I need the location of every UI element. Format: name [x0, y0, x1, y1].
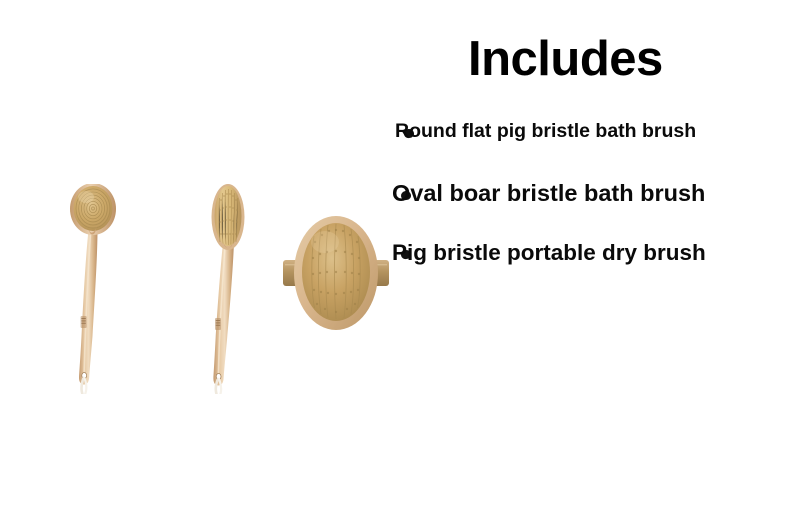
- round-bath-brush-illustration: [48, 184, 138, 394]
- feature-label: Pig bristle portable dry brush: [392, 240, 706, 265]
- feature-item-2: Pig bristle portable dry brush: [392, 240, 706, 266]
- page-title: Includes: [468, 31, 663, 87]
- product-includes-graphic: Includes Round flat pig bristle bath bru…: [0, 0, 800, 512]
- oval-dry-brush-illustration: [281, 212, 391, 334]
- feature-item-0: Round flat pig bristle bath brush: [395, 120, 696, 143]
- product-image-pig-bristle-portable-dry-brush: [281, 212, 391, 334]
- feature-label: Oval boar bristle bath brush: [392, 180, 705, 206]
- oval-bath-brush-illustration: [183, 184, 273, 394]
- feature-label: Round flat pig bristle bath brush: [395, 120, 696, 142]
- feature-item-1: Oval boar bristle bath brush: [392, 180, 705, 207]
- product-image-oval-boar-bristle-bath-brush: [183, 184, 273, 394]
- product-image-group: [0, 0, 400, 512]
- product-image-round-flat-pig-bristle-bath-brush: [48, 184, 138, 394]
- text-column: Includes Round flat pig bristle bath bru…: [390, 0, 800, 512]
